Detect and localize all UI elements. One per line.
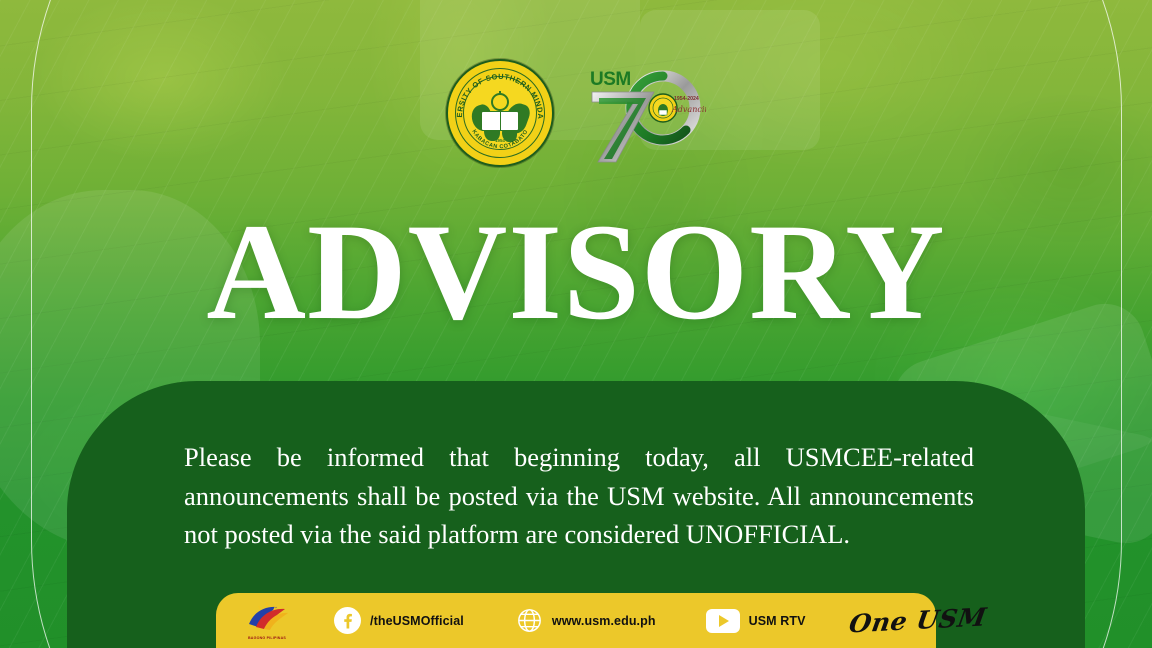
footer-item-youtube[interactable]: USM RTV: [706, 609, 806, 633]
bagong-pilipinas-label: BAGONG PILIPINAS: [244, 636, 290, 640]
bagong-pilipinas-logo-icon: BAGONG PILIPINAS: [244, 602, 290, 640]
usm-university-seal-icon: UNIVERSITY OF SOUTHERN MINDANAO KABACAN …: [446, 59, 554, 167]
footer-item-facebook[interactable]: /theUSMOfficial: [334, 607, 464, 634]
svg-text:Advancing: Advancing: [671, 105, 706, 114]
one-usm-signature-icon: One USM: [847, 602, 989, 638]
footer-item-bagong-pilipinas: BAGONG PILIPINAS: [244, 602, 290, 640]
globe-icon[interactable]: [516, 607, 543, 634]
svg-text:USM: USM: [590, 69, 631, 90]
page-title: ADVISORY: [0, 203, 1152, 341]
footer-contact-bar: BAGONG PILIPINAS /theUSMOfficial: [216, 593, 936, 648]
facebook-icon[interactable]: [334, 607, 361, 634]
logo-row: UNIVERSITY OF SOUTHERN MINDANAO KABACAN …: [0, 58, 1152, 168]
footer-item-website[interactable]: www.usm.edu.ph: [516, 607, 656, 634]
svg-text:1954-2024: 1954-2024: [674, 96, 699, 102]
youtube-icon[interactable]: [706, 609, 740, 633]
usm-70th-anniversary-logo-icon: USM 1954-2024 Advancing: [568, 58, 706, 168]
seal-arc-text: UNIVERSITY OF SOUTHERN MINDANAO KABACAN …: [446, 59, 554, 167]
advisory-body-text: Please be informed that beginning today,…: [184, 438, 974, 554]
advisory-poster: UNIVERSITY OF SOUTHERN MINDANAO KABACAN …: [0, 0, 1152, 648]
svg-text:UNIVERSITY OF SOUTHERN MINDANA: UNIVERSITY OF SOUTHERN MINDANAO: [446, 59, 545, 119]
svg-text:1954: 1954: [495, 138, 505, 143]
facebook-handle-label: /theUSMOfficial: [370, 614, 464, 628]
footer-item-one-usm: One USM: [850, 606, 986, 635]
website-url-label: www.usm.edu.ph: [552, 614, 656, 628]
youtube-channel-label: USM RTV: [749, 614, 806, 628]
